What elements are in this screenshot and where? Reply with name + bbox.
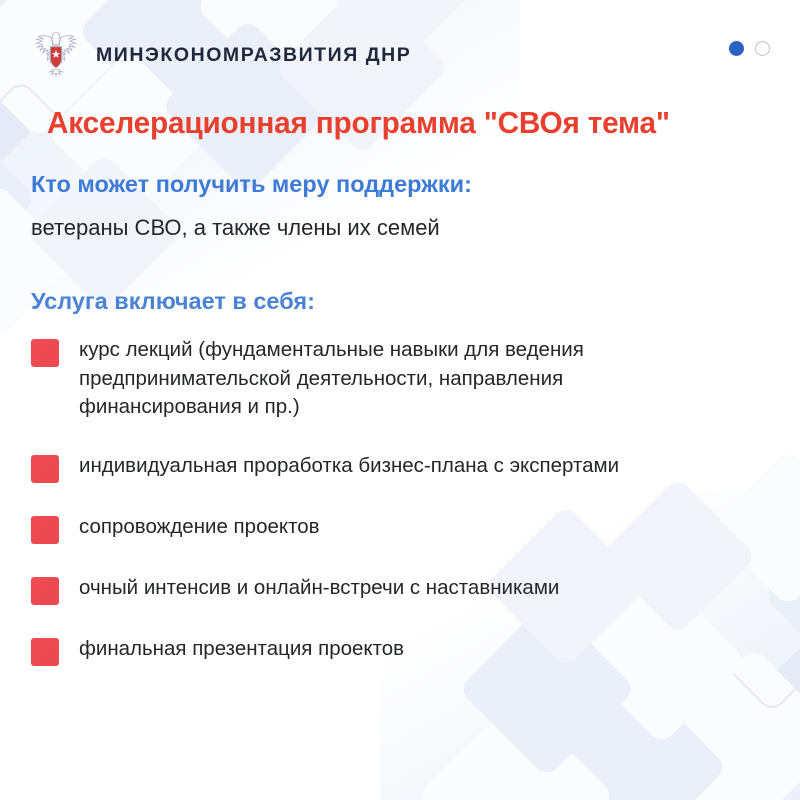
list-item: сопровождение проектов [31, 513, 771, 544]
pagination-dot-1[interactable] [729, 41, 744, 56]
page-title: Акселерационная программа "СВОя тема" [47, 105, 670, 141]
eligibility-heading: Кто может получить меру поддержки: [31, 171, 472, 198]
pattern-tile [417, 697, 615, 800]
pattern-tile [449, 765, 675, 800]
includes-heading: Услуга включает в себя: [31, 288, 315, 315]
list-item-label: финальная презентация проектов [79, 635, 404, 664]
list-item-label: очный интенсив и онлайн-встречи с настав… [79, 574, 559, 603]
includes-list: курс лекций (фундаментальные навыки для … [31, 336, 771, 696]
list-item: индивидуальная проработка бизнес-плана с… [31, 452, 771, 483]
pattern-tile [785, 409, 800, 590]
dnr-double-headed-eagle-emblem-icon [30, 27, 82, 83]
red-square-bullet-icon [31, 455, 59, 483]
pattern-tile [563, 733, 789, 800]
pagination-dot-2[interactable] [755, 41, 770, 56]
pattern-tile [0, 99, 37, 297]
slide-header: МИНЭКОНОМРАЗВИТИЯ ДНР [30, 27, 411, 83]
red-square-bullet-icon [31, 577, 59, 605]
list-item-label: индивидуальная проработка бизнес-плана с… [79, 452, 619, 481]
eligibility-body: ветераны СВО, а также члены их семей [31, 215, 440, 241]
pattern-tile [681, 703, 800, 800]
red-square-bullet-icon [31, 516, 59, 544]
slide-canvas: МИНЭКОНОМРАЗВИТИЯ ДНР Акселерационная пр… [0, 0, 800, 800]
pattern-tile [0, 197, 7, 381]
list-item: очный интенсив и онлайн-встречи с настав… [31, 574, 771, 605]
pattern-tile [0, 183, 77, 341]
pagination-dots[interactable] [729, 41, 770, 56]
red-square-bullet-icon [31, 339, 59, 367]
wordmark-text: МИНЭКОНОМРАЗВИТИЯ ДНР [96, 44, 411, 67]
list-item-label: сопровождение проектов [79, 513, 320, 542]
list-item-label: курс лекций (фундаментальные навыки для … [79, 336, 699, 422]
list-item: курс лекций (фундаментальные навыки для … [31, 336, 771, 422]
list-item: финальная презентация проектов [31, 635, 771, 666]
red-square-bullet-icon [31, 638, 59, 666]
